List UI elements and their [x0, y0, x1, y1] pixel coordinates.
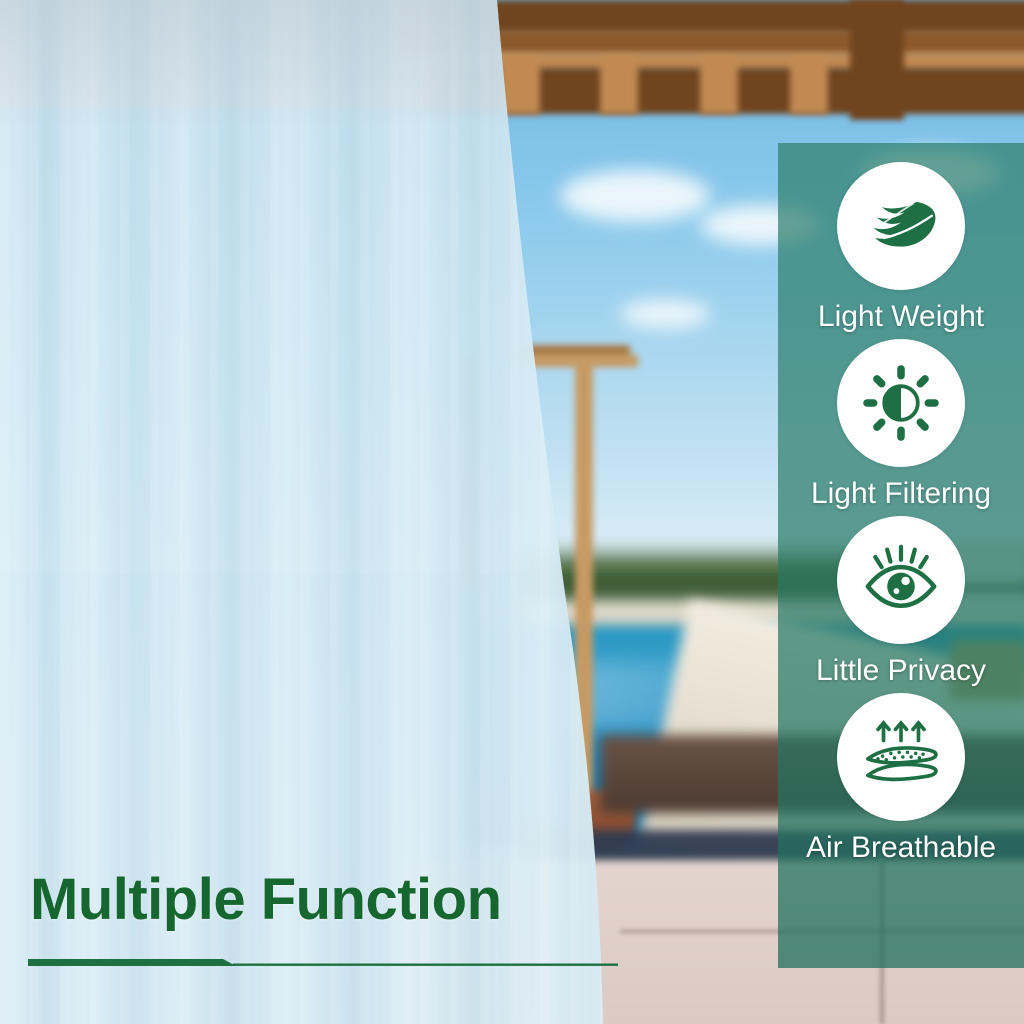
feather-icon [858, 183, 944, 269]
feature-label: Little Privacy [816, 654, 986, 687]
feature-light-filtering[interactable]: Light Filtering [778, 339, 1024, 510]
cloud-icon [620, 300, 710, 328]
title-divider [28, 957, 618, 971]
pergola-rafter [790, 56, 828, 114]
feature-icon-wrapper [837, 162, 965, 290]
pergola-rafter [600, 56, 638, 114]
feature-light-weight[interactable]: Light Weight [778, 162, 1024, 333]
feature-panel: Light Weight [778, 143, 1024, 968]
product-marketing-image: Multiple Function Light Weight [0, 0, 1024, 1024]
cloud-icon [560, 170, 710, 222]
pergola-rafter [700, 56, 738, 114]
feature-label: Light Filtering [811, 477, 991, 510]
page-title: Multiple Function [30, 866, 502, 933]
feature-icon-wrapper [837, 516, 965, 644]
feature-label: Light Weight [818, 300, 984, 333]
feature-icon-wrapper [837, 339, 965, 467]
feature-icon-wrapper [837, 693, 965, 821]
eye-icon [855, 534, 947, 626]
pergola-post [850, 0, 904, 120]
feature-air-breathable[interactable]: Air Breathable [778, 693, 1024, 864]
feature-little-privacy[interactable]: Little Privacy [778, 516, 1024, 687]
breathable-fabric-icon [855, 711, 947, 803]
feature-label: Air Breathable [806, 831, 996, 864]
sun-brightness-icon [859, 361, 943, 445]
